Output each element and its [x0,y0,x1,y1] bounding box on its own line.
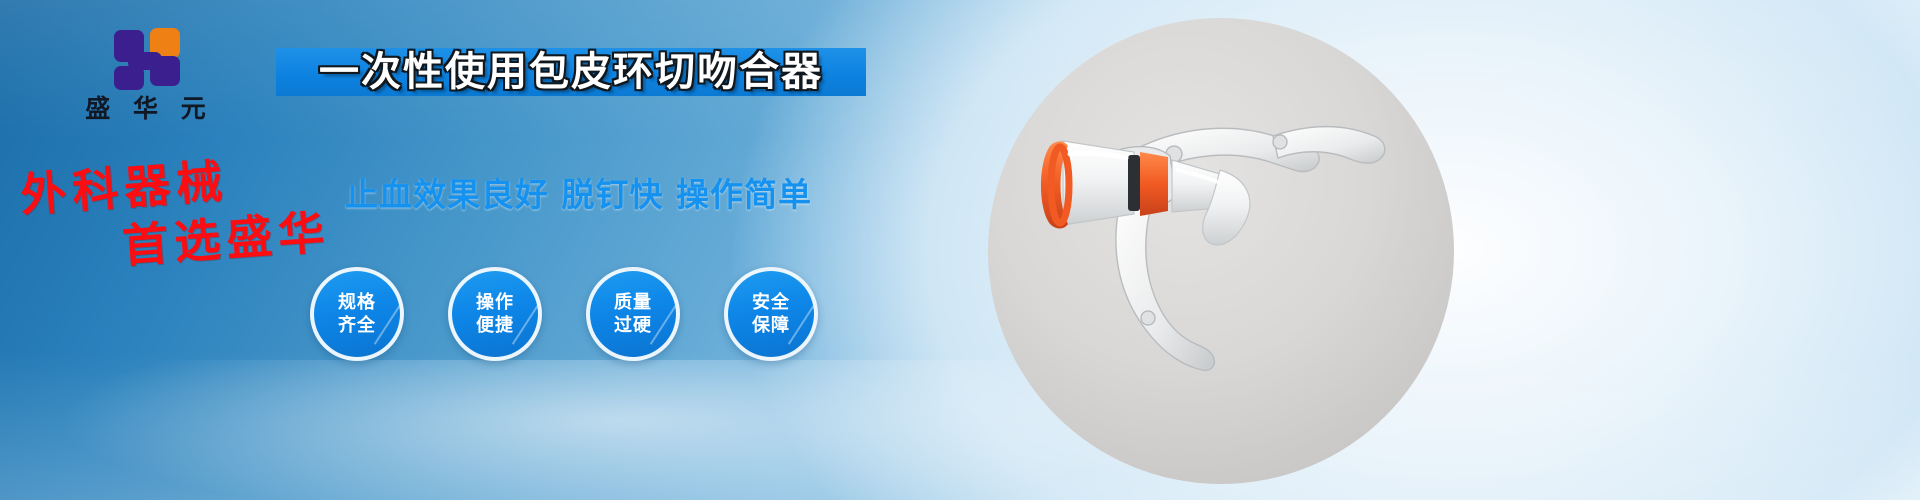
badge-label-line2: 齐全 [338,314,376,337]
feature-badge-operation[interactable]: 操作 便捷 [448,267,542,361]
sheng-hua-yuan-logo-icon [110,28,182,90]
badge-label-line2: 过硬 [614,314,652,337]
company-name: 盛 华 元 [58,96,233,121]
brand-logo-block: 盛 华 元 [58,28,233,121]
page-title: 一次性使用包皮环切吻合器 [319,52,823,92]
circumcision-stapler-icon [988,18,1454,484]
calligraphy-line-2: 首选盛华 [120,196,332,276]
product-subtitle: 止血效果良好 脱钉快 操作简单 [345,168,812,216]
badge-label-line1: 安全 [752,291,790,314]
badge-label-line1: 操作 [476,291,514,314]
product-title-banner: 一次性使用包皮环切吻合器 [276,48,866,96]
badge-label-line1: 质量 [614,291,652,314]
feature-badge-quality[interactable]: 质量 过硬 [586,267,680,361]
badge-label-line2: 便捷 [476,314,514,337]
badge-label-line1: 规格 [338,291,376,314]
feature-badge-specifications[interactable]: 规格 齐全 [310,267,404,361]
badge-label-line2: 保障 [752,314,790,337]
feature-badge-list: 规格 齐全 操作 便捷 质量 过硬 安全 保障 [310,267,818,361]
feature-badge-safety[interactable]: 安全 保障 [724,267,818,361]
product-image [988,18,1454,484]
background-glow [0,360,1920,500]
